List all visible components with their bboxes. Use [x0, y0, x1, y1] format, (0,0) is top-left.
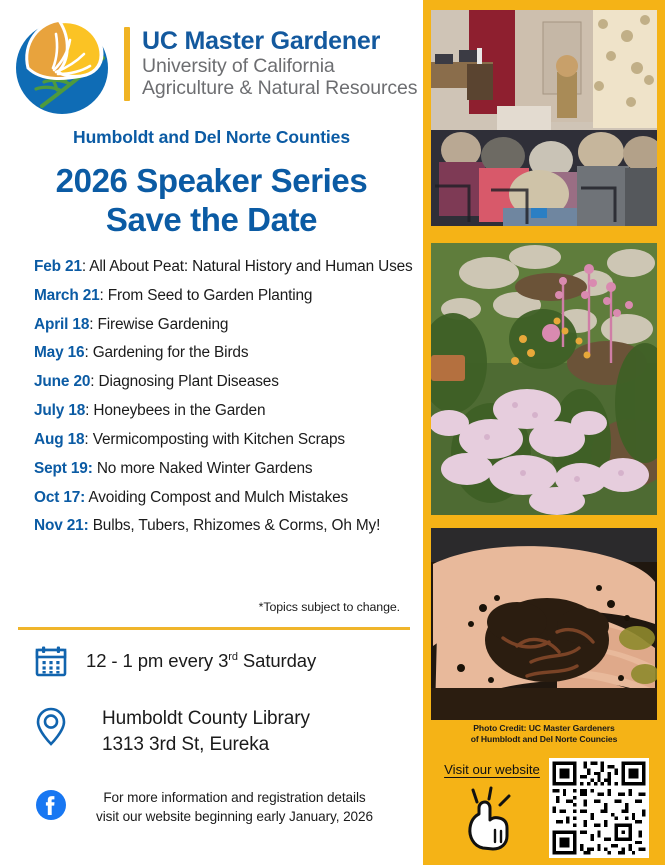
time-post: Saturday [238, 650, 316, 671]
schedule-item-separator: : [100, 287, 108, 304]
photo-hands-compost [431, 528, 657, 720]
schedule-item-date: July 18 [34, 402, 85, 419]
brand-line-1: UC Master Gardener [142, 28, 417, 55]
section-divider [18, 627, 410, 630]
schedule-item-separator: : [84, 344, 92, 361]
photo-credit: Photo Credit: UC Master Gardeners of Hum… [431, 723, 657, 745]
map-pin-icon [28, 706, 74, 748]
schedule-item: May 16: Gardening for the Birds [34, 344, 414, 362]
california-poppy-logo [8, 10, 120, 118]
schedule-item-date: Oct 17: [34, 489, 85, 506]
title-line-2: Save the Date [0, 201, 423, 240]
venue-name: Humboldt County Library [102, 706, 310, 732]
schedule-item: Nov 21: Bulbs, Tubers, Rhizomes & Corms,… [34, 517, 414, 535]
photo-audience-lecture [431, 10, 657, 226]
schedule-item-topic: From Seed to Garden Planting [108, 287, 313, 304]
brand-wordmark: UC Master Gardener University of Califor… [142, 28, 417, 99]
schedule-item: Feb 21: All About Peat: Natural History … [34, 258, 414, 276]
venue-address: 1313 3rd St, Eureka [102, 732, 310, 758]
brand-divider-bar [124, 27, 130, 101]
schedule-item: Aug 18: Vermicomposting with Kitchen Scr… [34, 431, 414, 449]
photo-garden-yarrow [431, 243, 657, 515]
schedule-item-date: May 16 [34, 344, 84, 361]
schedule-item-separator: : [84, 431, 92, 448]
schedule-item-date: Feb 21 [34, 258, 82, 275]
social-text: For more information and registration de… [96, 788, 373, 827]
pointing-hand-click-icon [459, 786, 521, 852]
brand-line-3: Agriculture & Natural Resources [142, 77, 417, 99]
schedule-item-date: Nov 21: [34, 517, 89, 534]
facebook-icon[interactable] [28, 788, 74, 822]
meeting-time-text: 12 - 1 pm every 3rd Saturday [86, 650, 316, 672]
time-ordinal-suffix: rd [228, 651, 238, 663]
schedule-item-topic: Diagnosing Plant Diseases [99, 373, 279, 390]
schedule-item-date: June 20 [34, 373, 90, 390]
social-line-2: visit our website beginning early Januar… [96, 807, 373, 826]
right-photo-column: Photo Credit: UC Master Gardeners of Hum… [423, 0, 665, 865]
page-title: 2026 Speaker Series Save the Date [0, 162, 423, 240]
venue-text: Humboldt County Library 1313 3rd St, Eur… [102, 706, 310, 758]
time-pre: 12 - 1 pm every 3 [86, 650, 228, 671]
schedule-item: Oct 17: Avoiding Compost and Mulch Mista… [34, 489, 414, 507]
title-line-1: 2026 Speaker Series [0, 162, 423, 201]
schedule-item-topic: Firewise Gardening [98, 316, 229, 333]
photo-credit-line-2: of Humblodt and Del Norte Councies [431, 734, 657, 745]
schedule-item-topic: Bulbs, Tubers, Rhizomes & Corms, Oh My! [93, 517, 381, 534]
schedule-item-topic: Honeybees in the Garden [93, 402, 265, 419]
schedule-item-date: Sept 19: [34, 460, 93, 477]
topics-footnote: *Topics subject to change. [0, 600, 400, 614]
qr-code[interactable] [549, 758, 649, 858]
schedule-item-topic: Gardening for the Birds [93, 344, 249, 361]
schedule-item: March 21: From Seed to Garden Planting [34, 287, 414, 305]
schedule-item: June 20: Diagnosing Plant Diseases [34, 373, 414, 391]
social-row[interactable]: For more information and registration de… [28, 788, 423, 827]
county-subtitle: Humboldt and Del Norte Counties [0, 127, 423, 148]
calendar-icon [28, 644, 74, 678]
schedule-item-topic: Avoiding Compost and Mulch Mistakes [88, 489, 348, 506]
meeting-time-row: 12 - 1 pm every 3rd Saturday [28, 644, 418, 678]
venue-row: Humboldt County Library 1313 3rd St, Eur… [28, 706, 418, 758]
schedule-item-separator: : [89, 316, 97, 333]
schedule-item-date: Aug 18 [34, 431, 84, 448]
schedule-item-date: March 21 [34, 287, 100, 304]
schedule-item-separator: : [90, 373, 98, 390]
speaker-series-poster: UC Master Gardener University of Califor… [0, 0, 665, 865]
photo-credit-line-1: Photo Credit: UC Master Gardeners [431, 723, 657, 734]
schedule-item-date: April 18 [34, 316, 89, 333]
visit-website-link[interactable]: Visit our website [437, 762, 547, 777]
left-content-column: UC Master Gardener University of Califor… [0, 0, 423, 865]
brand-line-2: University of California [142, 55, 417, 77]
social-line-1: For more information and registration de… [96, 788, 373, 807]
brand-header: UC Master Gardener University of Califor… [8, 8, 418, 120]
schedule-item-topic: Vermicomposting with Kitchen Scraps [93, 431, 345, 448]
schedule-item-topic: All About Peat: Natural History and Huma… [89, 258, 412, 275]
schedule-item: April 18: Firewise Gardening [34, 316, 414, 334]
schedule-item: Sept 19: No more Naked Winter Gardens [34, 460, 414, 478]
schedule-item: July 18: Honeybees in the Garden [34, 402, 414, 420]
schedule-item-topic: No more Naked Winter Gardens [97, 460, 313, 477]
schedule-list: Feb 21: All About Peat: Natural History … [34, 258, 414, 546]
